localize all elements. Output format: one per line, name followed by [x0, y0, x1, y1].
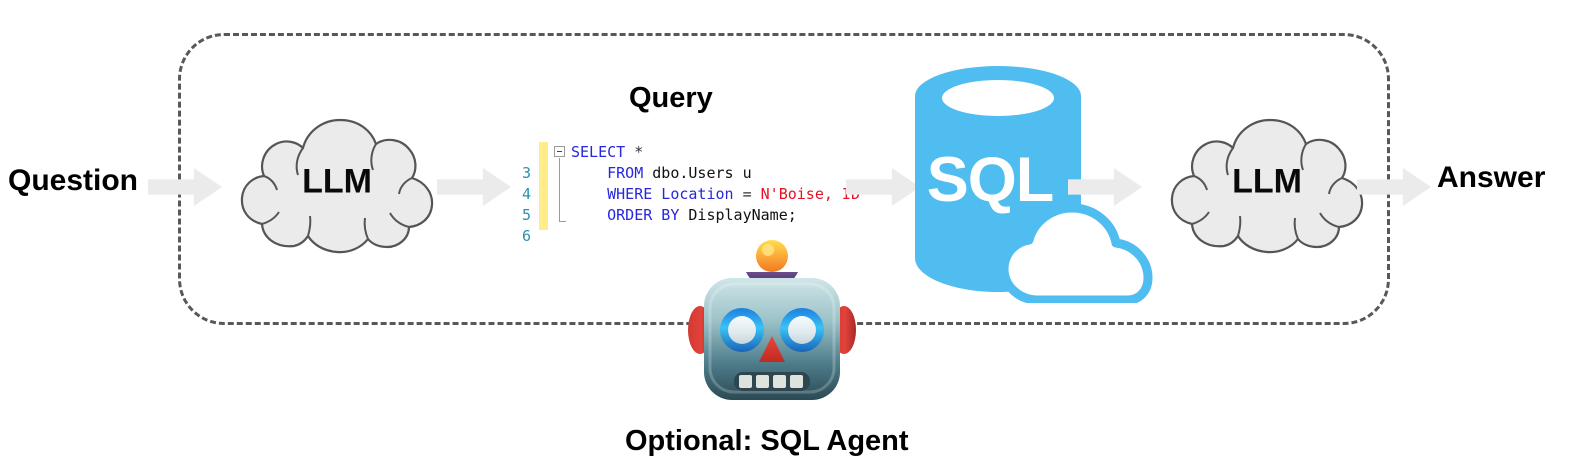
- node-llm-2: LLM: [1167, 112, 1367, 254]
- code-line-text: SELECT *: [571, 142, 643, 163]
- sql-operator: *: [625, 143, 643, 161]
- sql-keyword: FROM: [571, 164, 643, 182]
- node-llm-1: LLM: [237, 112, 437, 254]
- line-number: 6: [515, 226, 531, 247]
- code-line-text: FROM dbo.Users u: [571, 163, 752, 184]
- agent-caption: Optional: SQL Agent: [625, 425, 909, 458]
- sql-operator: =: [734, 185, 761, 203]
- sql-identifier: DisplayName;: [679, 206, 796, 224]
- diagram-canvas: Question LLM Query 3 SELECT *: [0, 0, 1571, 470]
- code-line-6: 6 ORDER BY DisplayName;: [515, 205, 845, 226]
- query-title: Query: [629, 82, 713, 115]
- code-line-text: ORDER BY DisplayName;: [571, 205, 797, 226]
- sql-code-block: 3 SELECT * 4 FROM dbo.Users u 5 WHERE Lo…: [515, 142, 845, 234]
- sql-identifier: dbo.Users u: [643, 164, 751, 182]
- sql-keyword: WHERE Location: [571, 185, 734, 203]
- sql-keyword: SELECT: [571, 143, 625, 161]
- sql-keyword: ORDER BY: [571, 206, 679, 224]
- code-line-text: WHERE Location = N'Boise, ID': [571, 184, 869, 205]
- input-label-question: Question: [8, 164, 138, 198]
- code-line-3: 3 SELECT *: [515, 142, 845, 163]
- code-line-5: 5 WHERE Location = N'Boise, ID': [515, 184, 845, 205]
- code-line-4: 4 FROM dbo.Users u: [515, 163, 845, 184]
- robot-face-emoji: [686, 238, 858, 410]
- output-label-answer: Answer: [1437, 161, 1545, 195]
